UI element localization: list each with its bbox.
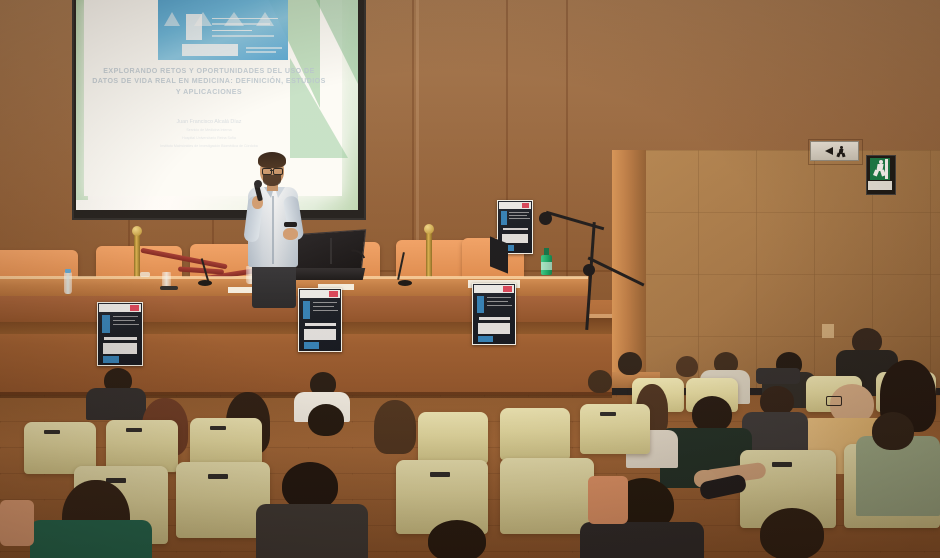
exit-sign-label xyxy=(868,181,892,190)
cable xyxy=(160,286,178,290)
exit-pictogram xyxy=(870,158,890,180)
speaker-beard xyxy=(263,175,281,186)
audience-head xyxy=(282,462,338,510)
seat-tag xyxy=(44,430,60,434)
speaker-shirt-placket xyxy=(272,196,274,264)
congress-poster xyxy=(472,283,516,345)
microphone-base xyxy=(398,280,412,286)
mic-stand-joint xyxy=(583,264,595,276)
sanitizer-label xyxy=(541,262,552,270)
audience-torso xyxy=(256,504,368,558)
running-man-icon xyxy=(836,146,845,157)
seat-tag xyxy=(208,474,228,479)
seat-tag xyxy=(430,472,450,477)
seat-tag xyxy=(126,428,142,432)
antenna xyxy=(330,238,332,264)
microphone-head xyxy=(539,212,552,225)
water-bottle xyxy=(64,272,72,294)
microphone-base xyxy=(198,280,212,286)
stanchion-finial xyxy=(424,224,434,234)
slide-author: Juan Francisco Alcalá Díaz xyxy=(96,118,322,126)
slide-affiliation-2: Instituto Maimónides de Investigación Bi… xyxy=(96,143,322,149)
exit-sign-horizontal xyxy=(810,141,859,161)
eyeglasses-bridge xyxy=(270,170,274,171)
bottle-cap xyxy=(65,269,71,273)
arrow-left-icon xyxy=(825,147,833,155)
audience-hair xyxy=(374,400,416,454)
audience-seat xyxy=(500,408,570,460)
auditorium-photo: EXPLORANDO RETOS Y OPORTUNIDADES DEL USO… xyxy=(0,0,940,558)
stanchion-finial xyxy=(132,226,142,236)
speaker-gesturing-hand xyxy=(283,228,298,240)
congress-banner-image xyxy=(158,0,288,60)
speaker-hair xyxy=(258,152,286,168)
bag xyxy=(588,476,628,524)
audience-head xyxy=(618,352,642,375)
seat-tag xyxy=(600,412,616,416)
wristwatch xyxy=(284,222,297,227)
audience-head xyxy=(428,520,486,558)
microphone-head xyxy=(254,180,262,188)
audience-torso xyxy=(30,520,152,558)
seat-tag xyxy=(772,462,792,467)
audience-seat xyxy=(418,412,488,464)
congress-poster xyxy=(97,302,143,366)
audience-head xyxy=(308,404,344,436)
audience-head xyxy=(588,370,612,393)
congress-poster xyxy=(298,288,342,352)
audience-torso xyxy=(86,388,146,420)
audience-head xyxy=(872,412,914,450)
slide-affiliation-1: Hospital Universitario Reina Sofía xyxy=(96,135,322,141)
slide-title: EXPLORANDO RETOS Y OPORTUNIDADES DEL USO… xyxy=(90,66,328,97)
wall-fixture xyxy=(822,324,834,338)
stanchion-post xyxy=(426,230,432,282)
slide-subtitle: Servicio de Medicina Interna xyxy=(96,127,322,133)
projection-screen: EXPLORANDO RETOS Y OPORTUNIDADES DEL USO… xyxy=(76,0,358,210)
backpack xyxy=(756,368,800,384)
audience-torso xyxy=(580,522,704,558)
eyeglasses-icon xyxy=(273,168,283,175)
audience-seat xyxy=(106,420,178,472)
audience-head xyxy=(760,508,824,558)
eyeglasses-icon xyxy=(826,396,842,406)
audience-head xyxy=(692,396,732,432)
seat-tag xyxy=(210,426,226,430)
bag xyxy=(0,500,34,546)
tissue xyxy=(140,272,150,277)
audience-head xyxy=(676,356,698,377)
audience-seat xyxy=(500,458,594,534)
